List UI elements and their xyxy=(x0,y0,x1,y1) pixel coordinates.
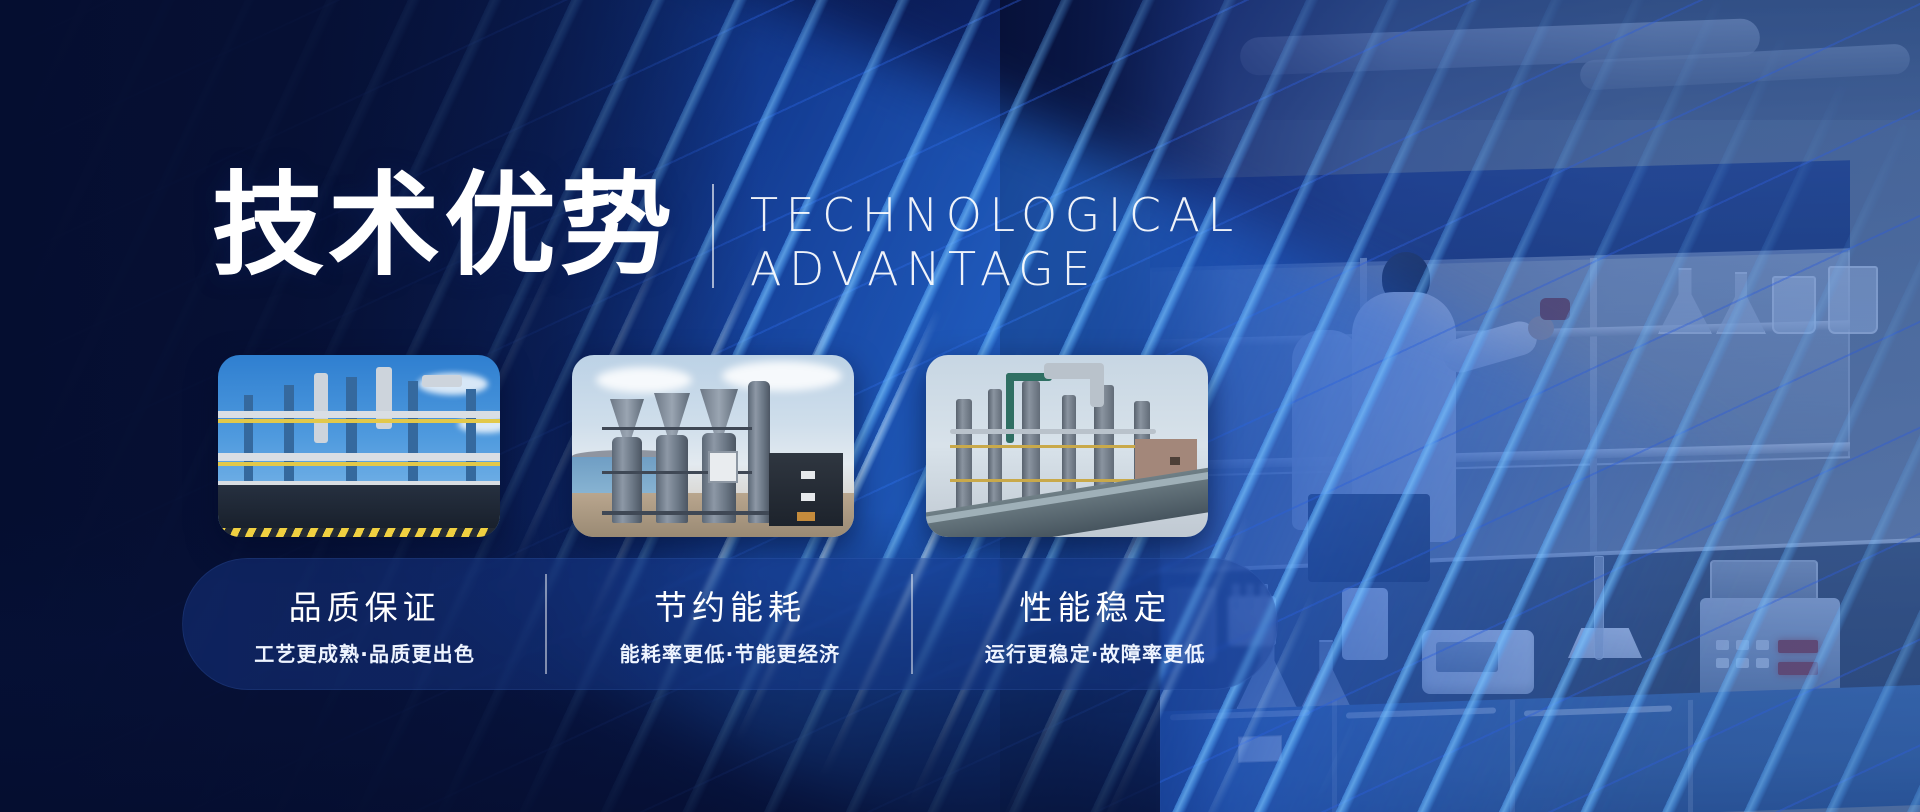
feature-image-1[interactable] xyxy=(218,355,500,537)
control-box xyxy=(708,451,738,483)
feature-subtitle: 工艺更成熟·品质更出色 xyxy=(254,638,475,667)
overhead-pipe xyxy=(1044,363,1096,379)
plant-pipe xyxy=(314,373,328,443)
headline-block: 技术优势 TECHNOLOGICAL ADVANTAGE xyxy=(212,170,1241,297)
cloud xyxy=(722,361,842,391)
feature-subtitle: 能耗率更低·节能更经济 xyxy=(620,638,841,667)
feature-image-3[interactable] xyxy=(926,355,1208,537)
evaporator-tower xyxy=(656,435,688,523)
structural-beam xyxy=(602,511,778,515)
feature-subtitle: 运行更稳定·故障率更低 xyxy=(985,638,1206,667)
plant-deck xyxy=(218,453,500,461)
building-window xyxy=(801,493,815,501)
refinery-column xyxy=(956,399,972,511)
headline-subtitle-en: TECHNOLOGICAL ADVANTAGE xyxy=(750,188,1241,297)
deck-railing xyxy=(218,419,500,423)
building-window xyxy=(1170,457,1180,465)
overhead-pipe xyxy=(1090,363,1104,407)
feature-list: 品质保证 工艺更成熟·品质更出色 节约能耗 能耗率更低·节能更经济 性能稳定 运… xyxy=(182,558,1278,690)
banner-content: 技术优势 TECHNOLOGICAL ADVANTAGE xyxy=(0,0,1920,812)
page-title: 技术优势 xyxy=(212,170,676,282)
evaporator-tower xyxy=(748,381,770,523)
title-divider xyxy=(712,184,714,288)
feature-title: 节约能耗 xyxy=(654,581,806,629)
feature-image-row xyxy=(218,355,1208,537)
deck-railing xyxy=(218,462,500,466)
headline-en-line2: ADVANTAGE xyxy=(750,242,1241,296)
feature-image-2[interactable] xyxy=(572,355,854,537)
feature-item-stability[interactable]: 性能稳定 运行更稳定·故障率更低 xyxy=(913,558,1278,690)
feature-item-quality[interactable]: 品质保证 工艺更成熟·品质更出色 xyxy=(182,558,547,690)
yellow-rail xyxy=(950,445,1156,448)
headline-en-line1: TECHNOLOGICAL xyxy=(750,188,1241,242)
feature-item-energy[interactable]: 节约能耗 能耗率更低·节能更经济 xyxy=(547,558,912,690)
building-door xyxy=(797,512,815,521)
refinery-column xyxy=(988,389,1002,511)
feature-title: 品质保证 xyxy=(289,581,441,629)
feature-title: 性能稳定 xyxy=(1019,581,1171,629)
hazard-stripe xyxy=(218,528,500,537)
cloud xyxy=(596,367,692,393)
technological-advantage-banner: 技术优势 TECHNOLOGICAL ADVANTAGE xyxy=(0,0,1920,812)
building-window xyxy=(801,471,815,479)
plant-deck xyxy=(218,411,500,418)
structural-beam xyxy=(602,427,752,430)
process-pipe xyxy=(950,429,1156,434)
plant-pipe xyxy=(422,375,462,387)
